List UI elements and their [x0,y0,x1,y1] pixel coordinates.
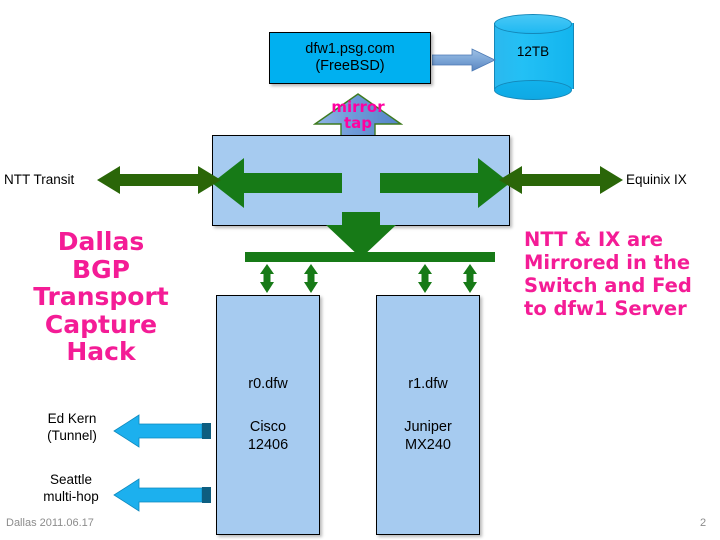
router-box-r0-dfw[interactable]: r0.dfw Cisco 12406 [216,295,320,535]
mirror-note-line-1: NTT & IX are [524,228,720,251]
ntt-transit-double-arrow-icon [96,163,222,197]
ed-kern-tunnel-arrow-icon [113,414,213,448]
page-number: 2 [700,517,706,529]
title-line-1: Dallas [6,228,196,256]
title-line-2: BGP [6,256,196,284]
ed-kern-label: Ed Kern (Tunnel) [32,411,112,445]
title-line-3: Transport [6,283,196,311]
router-box-r1-dfw[interactable]: r1.dfw Juniper MX240 [376,295,480,535]
equinix-ix-double-arrow-icon [498,163,624,197]
switch-to-routers-bus-and-arrows [245,252,495,294]
router-r0-vendor-label: Cisco [248,419,288,436]
router-r0-model-number-label: 12406 [248,437,288,454]
ed-kern-line2: (Tunnel) [32,428,112,445]
router-r1-model-number-label: MX240 [404,437,452,454]
title-annotation: Dallas BGP Transport Capture Hack [6,228,196,366]
router-r1-model-label: Juniper MX240 [404,419,452,454]
ntt-transit-label: NTT Transit [4,172,74,187]
ed-kern-line1: Ed Kern [32,411,112,428]
slide-canvas: 12TB dfw1.psg.com (FreeBSD) mirror t [0,0,720,540]
mirror-note-line-2: Mirrored in the [524,251,720,274]
switch-mirror-path-arrows [206,140,516,265]
title-line-4: Capture [6,311,196,339]
server-box-dfw1[interactable]: dfw1.psg.com (FreeBSD) [269,32,431,84]
title-line-5: Hack [6,338,196,366]
seattle-multihop-arrow-icon [113,478,213,512]
equinix-ix-label: Equinix IX [626,172,687,187]
server-hostname-label: dfw1.psg.com [305,41,394,58]
storage-capacity-label: 12TB [494,44,572,59]
server-to-storage-arrow-icon [432,48,496,72]
mirror-note-line-3: Switch and Fed [524,274,720,297]
cylinder-top-ellipse [494,14,572,34]
storage-cylinder: 12TB [494,14,572,98]
router-r0-model-label: Cisco 12406 [248,419,288,454]
mirror-note-annotation: NTT & IX are Mirrored in the Switch and … [524,228,720,320]
router-r0-name-label: r0.dfw [248,376,288,393]
cylinder-bottom-ellipse [494,80,572,100]
footer-date: Dallas 2011.06.17 [6,517,94,529]
router-r1-vendor-label: Juniper [404,419,452,436]
router-r1-name-label: r1.dfw [408,376,448,393]
server-os-label: (FreeBSD) [315,58,384,75]
seattle-line2: multi-hop [30,489,112,506]
seattle-multihop-label: Seattle multi-hop [30,472,112,506]
mirror-note-line-4: to dfw1 Server [524,297,720,320]
seattle-line1: Seattle [30,472,112,489]
